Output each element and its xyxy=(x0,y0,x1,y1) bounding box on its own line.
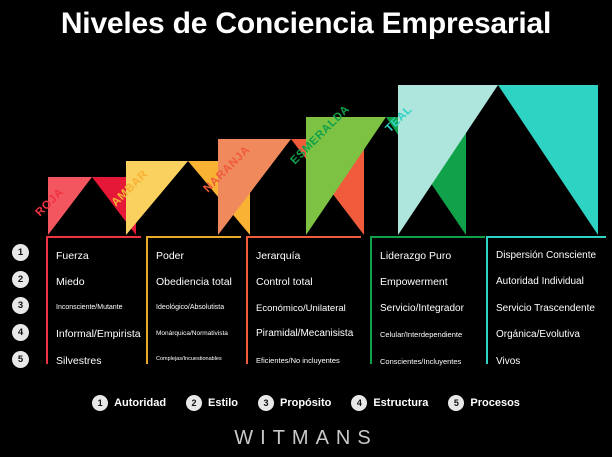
legend-item-estructura[interactable]: 4 Estructura xyxy=(351,395,428,411)
legend-label-5: Procesos xyxy=(470,397,520,409)
column-ambar-item-4: Monárquica/Normativista xyxy=(156,330,228,337)
column-naranja-item-1: Jerarquía xyxy=(256,250,300,262)
column-naranja-item-3: Económico/Unilateral xyxy=(256,303,346,314)
legend-number-5: 5 xyxy=(448,395,464,411)
mountain-teal xyxy=(398,85,598,235)
column-ambar[interactable]: Poder Obediencia total Ideológico/Absolu… xyxy=(146,236,241,364)
legend-item-proposito[interactable]: 3 Propósito xyxy=(258,395,331,411)
mountain-teal-left-face xyxy=(398,85,498,235)
column-esmeralda[interactable]: Liderazgo Puro Empowerment Servicio/Inte… xyxy=(370,236,485,364)
column-ambar-item-1: Poder xyxy=(156,250,184,262)
column-roja-item-4: Informal/Empirista xyxy=(56,328,141,340)
mountain-chart: ROJA AMBAR NARANJA ESMERALDA TEAL xyxy=(0,85,612,235)
legend-number-1: 1 xyxy=(92,395,108,411)
brand-wordmark: WITMANS xyxy=(0,427,612,450)
legend: 1 Autoridad 2 Estilo 3 Propósito 4 Estru… xyxy=(0,392,612,414)
column-ambar-item-5: Complejas/Incuestionables xyxy=(156,356,222,362)
column-ambar-item-3: Ideológico/Absolutista xyxy=(156,304,224,311)
column-ambar-item-2: Obediencia total xyxy=(156,276,232,288)
mountain-teal-right-face xyxy=(498,85,598,235)
mountain-ambar-left-face xyxy=(126,161,188,235)
column-esmeralda-item-1: Liderazgo Puro xyxy=(380,250,451,262)
column-roja-item-5: Silvestres xyxy=(56,355,102,367)
levels-columns: Fuerza Miedo Inconsciente/Mutante Inform… xyxy=(0,236,612,376)
legend-number-4: 4 xyxy=(351,395,367,411)
legend-item-estilo[interactable]: 2 Estilo xyxy=(186,395,238,411)
legend-number-2: 2 xyxy=(186,395,202,411)
column-esmeralda-item-5: Conscientes/Incluyentes xyxy=(380,357,461,366)
column-roja-item-1: Fuerza xyxy=(56,250,89,262)
column-naranja[interactable]: Jerarquía Control total Económico/Unilat… xyxy=(246,236,361,364)
legend-item-autoridad[interactable]: 1 Autoridad xyxy=(92,395,166,411)
legend-number-3: 3 xyxy=(258,395,274,411)
column-naranja-item-4: Piramidal/Mecanisista xyxy=(256,328,353,339)
column-roja-item-3: Inconsciente/Mutante xyxy=(56,304,123,311)
legend-item-procesos[interactable]: 5 Procesos xyxy=(448,395,520,411)
legend-label-3: Propósito xyxy=(280,397,331,409)
column-esmeralda-item-3: Servicio/Integrador xyxy=(380,303,464,314)
infographic-page: Niveles de Conciencia Empresarial ROJA A… xyxy=(0,0,612,457)
column-teal[interactable]: Dispersión Consciente Autoridad Individu… xyxy=(486,236,606,364)
column-teal-item-4: Orgánica/Evolutiva xyxy=(496,329,580,340)
column-esmeralda-item-4: Celular/Interdependiente xyxy=(380,330,462,339)
column-teal-item-3: Servicio Trascendente xyxy=(496,303,595,314)
column-naranja-item-5: Eficientes/No incluyentes xyxy=(256,356,340,365)
legend-label-4: Estructura xyxy=(373,397,428,409)
column-teal-item-1: Dispersión Consciente xyxy=(496,250,596,261)
column-teal-item-2: Autoridad Individual xyxy=(496,276,584,287)
column-roja-item-2: Miedo xyxy=(56,276,85,288)
column-esmeralda-item-2: Empowerment xyxy=(380,276,448,288)
legend-label-1: Autoridad xyxy=(114,397,166,409)
mountain-naranja-left-face xyxy=(218,139,291,235)
column-teal-item-5: Vivos xyxy=(496,356,520,367)
page-title: Niveles de Conciencia Empresarial xyxy=(0,7,612,41)
column-roja[interactable]: Fuerza Miedo Inconsciente/Mutante Inform… xyxy=(46,236,141,364)
legend-label-2: Estilo xyxy=(208,397,238,409)
column-naranja-item-2: Control total xyxy=(256,276,313,288)
